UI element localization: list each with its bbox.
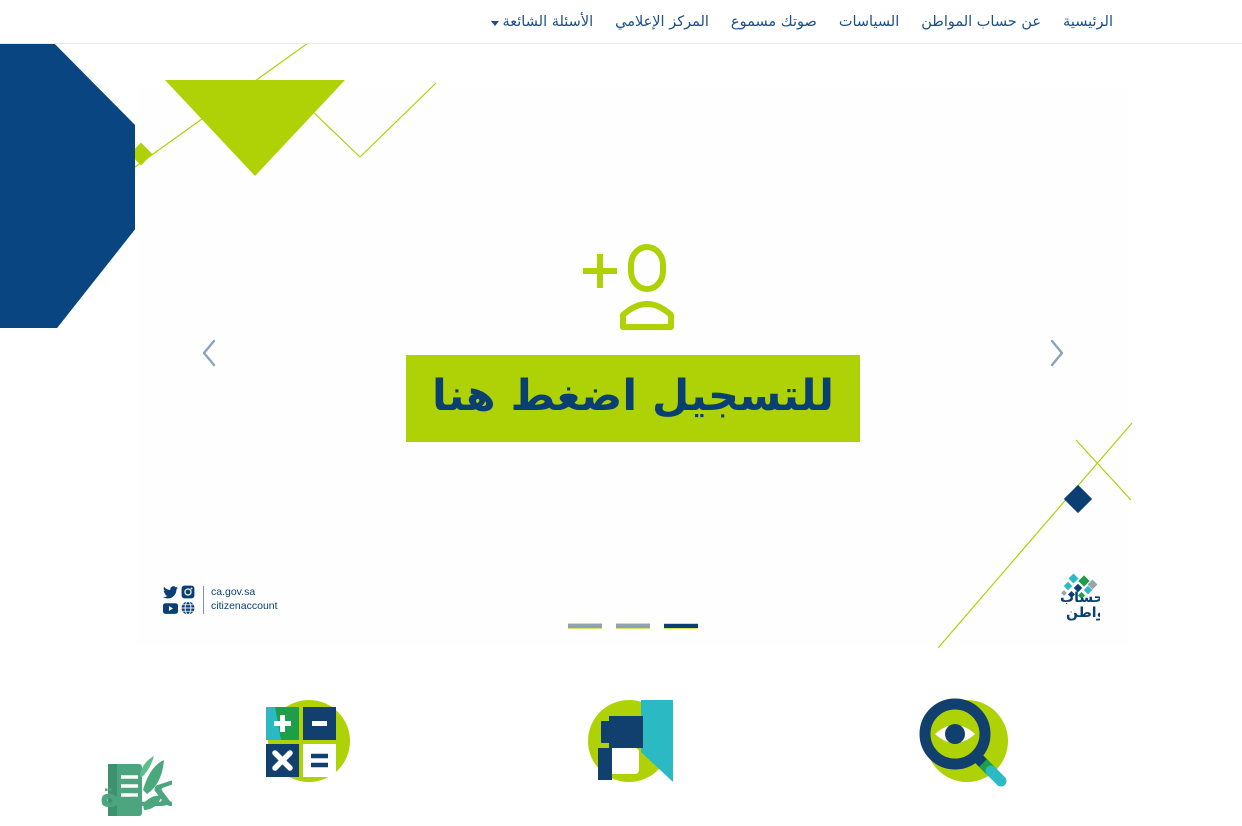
citizen-account-logo-mark: حساب المواطن xyxy=(1008,573,1100,621)
carousel-dot-1[interactable] xyxy=(664,623,698,629)
nav-item-label: السياسات xyxy=(839,15,899,30)
nav-item-policies[interactable]: السياسات xyxy=(828,0,910,44)
citizen-account-logo[interactable]: حساب المواطن xyxy=(1008,573,1100,621)
feature-inquiry[interactable] xyxy=(883,690,1043,792)
social-icon-grid xyxy=(162,585,196,615)
nav-list: الرئيسية عن حساب المواطن السياسات صوتك م… xyxy=(480,0,1125,44)
nav-item-your-voice[interactable]: صوتك مسموع xyxy=(720,0,828,44)
carousel-next-button[interactable] xyxy=(1039,336,1073,370)
instagram-icon[interactable] xyxy=(180,585,196,599)
svg-text:المواطن: المواطن xyxy=(1066,605,1100,621)
account-handle: citizenaccount xyxy=(211,600,278,614)
nav-item-faq[interactable]: الأسئلة الشائعة xyxy=(480,0,605,44)
nav-item-about[interactable]: عن حساب المواطن xyxy=(910,0,1052,44)
calculator-icon xyxy=(251,690,356,792)
nav-item-label: الرئيسية xyxy=(1063,15,1113,30)
carousel-dot-2[interactable] xyxy=(616,623,650,629)
carousel-dot-3[interactable] xyxy=(568,623,602,629)
nav-item-label: صوتك مسموع xyxy=(731,15,817,30)
website-handle: ca.gov.sa xyxy=(211,586,278,600)
megaphone-icon xyxy=(581,690,686,792)
globe-icon[interactable] xyxy=(180,601,196,615)
hero-carousel: للتسجيل اضغط هنا xyxy=(138,88,1128,645)
nav-item-media-center[interactable]: المركز الإعلامي xyxy=(604,0,720,44)
nav-item-home[interactable]: الرئيسية xyxy=(1052,0,1124,44)
svg-text:حساب: حساب xyxy=(1060,590,1100,606)
feature-icon-row xyxy=(138,690,1128,810)
youtube-icon[interactable] xyxy=(162,601,178,615)
eye-search-icon xyxy=(911,690,1016,792)
nav-item-label: عن حساب المواطن xyxy=(921,15,1041,30)
social-handles: ca.gov.sa citizenaccount xyxy=(211,586,278,614)
chevron-down-icon xyxy=(491,21,499,26)
watermark-text: فـكـرة xyxy=(100,775,172,815)
page-root: الرئيسية عن حساب المواطن السياسات صوتك م… xyxy=(0,0,1242,826)
nav-item-label: المركز الإعلامي xyxy=(615,15,709,30)
twitter-icon[interactable] xyxy=(162,585,178,599)
top-navigation-bar: الرئيسية عن حساب المواطن السياسات صوتك م… xyxy=(0,0,1242,44)
carousel-prev-button[interactable] xyxy=(193,336,227,370)
feature-announcements[interactable] xyxy=(553,690,713,792)
nav-item-label: الأسئلة الشائعة xyxy=(503,15,594,30)
add-user-icon xyxy=(577,243,689,331)
chevron-right-icon xyxy=(1046,338,1066,368)
register-cta-button[interactable]: للتسجيل اضغط هنا xyxy=(406,355,860,442)
feature-calculator[interactable] xyxy=(223,690,383,792)
book-leaf-icon: فـكـرة xyxy=(4,754,172,820)
fikra-watermark: فـكـرة xyxy=(4,754,172,820)
chevron-left-icon xyxy=(200,338,220,368)
carousel-indicators xyxy=(138,623,1128,629)
navy-polygon-decoration xyxy=(0,38,135,328)
social-links-strip: ca.gov.sa citizenaccount xyxy=(162,585,278,615)
hero-slide-content: للتسجيل اضغط هنا xyxy=(138,243,1128,442)
social-divider xyxy=(203,586,204,614)
